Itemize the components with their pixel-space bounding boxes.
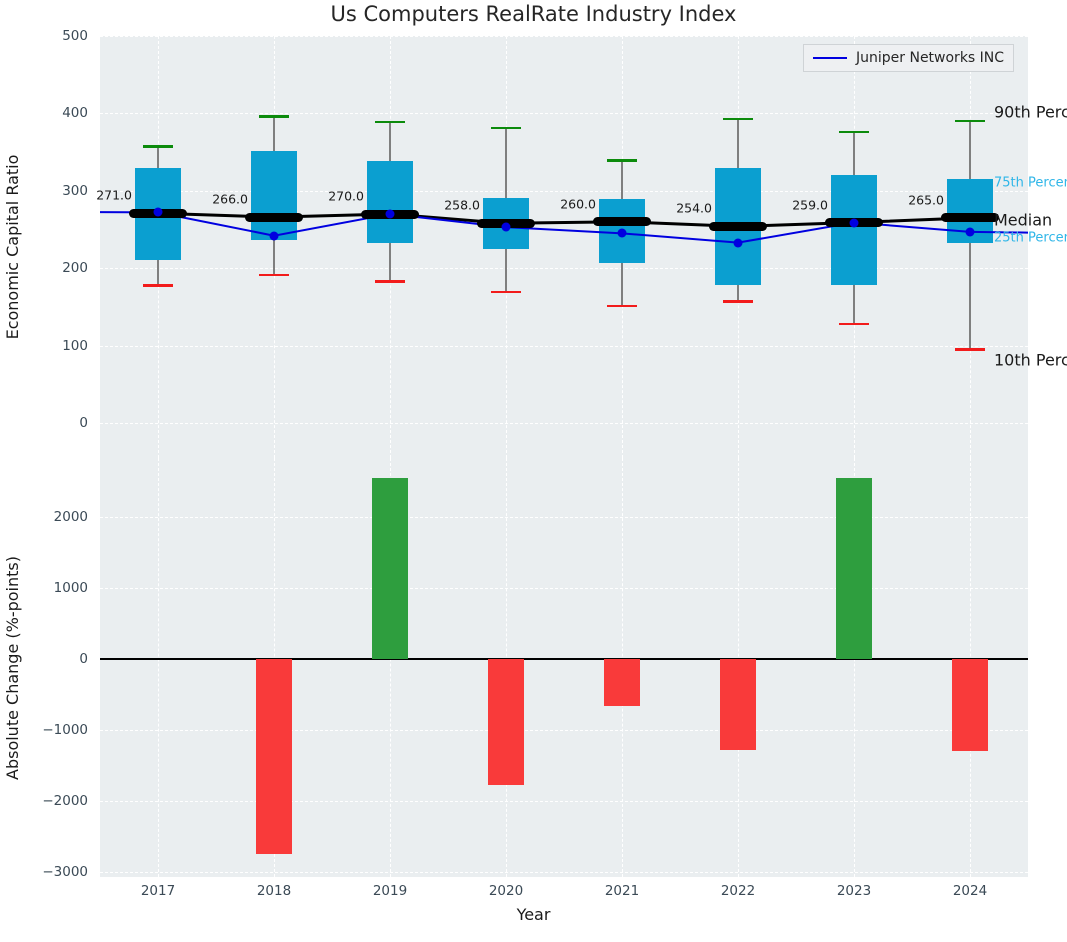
median-marker bbox=[245, 213, 303, 222]
bar-2023 bbox=[836, 478, 872, 659]
legend-line-swatch bbox=[813, 57, 847, 59]
bar-2018 bbox=[256, 659, 292, 854]
median-value-label: 259.0 bbox=[792, 197, 832, 212]
median-marker bbox=[709, 222, 767, 231]
x-axis-label: Year bbox=[0, 905, 1067, 924]
median-value-label: 258.0 bbox=[444, 198, 484, 213]
legend-label: Juniper Networks INC bbox=[856, 50, 1004, 66]
bar-2021 bbox=[604, 659, 640, 706]
median-marker bbox=[941, 213, 999, 222]
median-and-series-overlay bbox=[0, 0, 1067, 942]
bar-2020 bbox=[488, 659, 524, 785]
median-value-label: 270.0 bbox=[328, 189, 368, 204]
median-value-label: 254.0 bbox=[676, 201, 716, 216]
median-value-label: 271.0 bbox=[96, 188, 136, 203]
bar-2024 bbox=[952, 659, 988, 751]
series-point bbox=[502, 223, 511, 232]
median-marker bbox=[593, 217, 651, 226]
bar-2019 bbox=[372, 478, 408, 659]
annotation-p25 small: 25th Percentile bbox=[994, 230, 1067, 245]
series-point bbox=[386, 210, 395, 219]
series-point bbox=[966, 227, 975, 236]
series-point bbox=[850, 218, 859, 227]
legend[interactable]: Juniper Networks INC bbox=[803, 44, 1014, 72]
series-point bbox=[270, 231, 279, 240]
series-point bbox=[618, 229, 627, 238]
median-value-label: 260.0 bbox=[560, 196, 600, 211]
median-value-label: 265.0 bbox=[908, 192, 948, 207]
annotation-med: Median bbox=[994, 210, 1052, 229]
series-point bbox=[154, 208, 163, 217]
median-value-label: 266.0 bbox=[212, 192, 252, 207]
annotation-p10: 10th Percentile bbox=[994, 351, 1067, 370]
annotation-p90: 90th Percentile bbox=[994, 103, 1067, 122]
annotation-p75 small: 75th Percentile bbox=[994, 176, 1067, 191]
bar-2022 bbox=[720, 659, 756, 750]
zero-baseline bbox=[100, 658, 1028, 660]
series-point bbox=[734, 238, 743, 247]
